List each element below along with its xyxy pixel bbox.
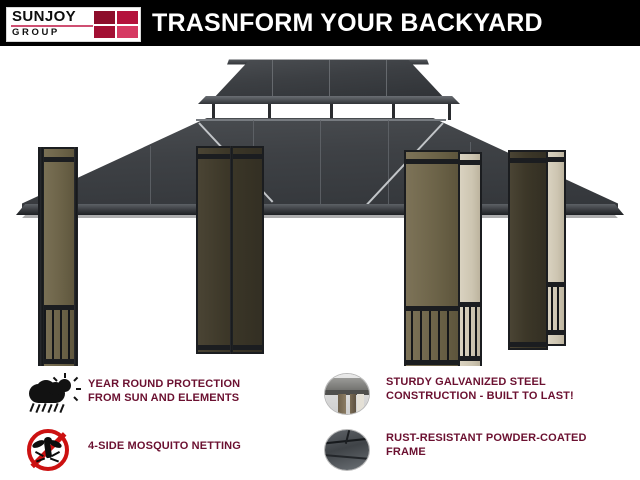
bay-rail-top [406, 159, 458, 164]
feature-label: STURDY GALVANIZED STEEL CONSTRUCTION - B… [386, 372, 574, 403]
rain-streak [47, 404, 52, 413]
scroll-bar [551, 286, 553, 332]
logo-wordmark: SUNJOY GROUP [9, 8, 93, 41]
feature-label-line: YEAR ROUND PROTECTION [88, 378, 240, 392]
scroll-bar [68, 309, 70, 363]
bay-rail-mid [548, 282, 564, 287]
bay-rail-low [548, 330, 564, 335]
bay-rail-low [510, 342, 546, 347]
cupola-seam [386, 60, 387, 100]
curtain-bay-left-corner [38, 147, 78, 366]
rain-streak [29, 403, 34, 412]
cupola-seam [329, 60, 330, 100]
no-mosquito-icon [24, 428, 80, 472]
scroll-bar [557, 286, 559, 332]
logo-square-3 [94, 26, 115, 39]
scrollwork-panel [460, 306, 480, 358]
roof-panel-seam [320, 120, 321, 208]
bay-rail-top [40, 157, 76, 162]
steel-post-photo-icon [322, 372, 378, 416]
post-edge-left [40, 147, 44, 366]
photo-curtain [357, 394, 364, 414]
cupola-eave [198, 96, 460, 104]
sun-ray [64, 373, 66, 378]
bay-rail-low [406, 360, 458, 365]
cupola-support-leg [212, 104, 215, 120]
feature-galvanized-steel: STURDY GALVANIZED STEEL CONSTRUCTION - B… [322, 372, 634, 416]
roof-ridge-line [196, 119, 446, 121]
advertisement-banner: SUNJOY GROUP TRASNFORM YOUR BACKYARD [0, 0, 640, 480]
scrollwork-panel [406, 310, 458, 362]
scroll-bar [429, 310, 431, 362]
logo-brand-line1: SUNJOY [12, 9, 76, 24]
feature-label-line: RUST-RESISTANT POWDER-COATED [386, 432, 587, 446]
scrollwork-panel [40, 309, 76, 363]
corner-post-far-right [546, 150, 566, 346]
sunjoy-group-logo: SUNJOY GROUP [6, 7, 141, 42]
feature-label-line: STURDY GALVANIZED STEEL [386, 376, 574, 390]
logo-brand-line2: GROUP [12, 27, 60, 38]
bay-rail-low [460, 356, 480, 361]
sun-ray [73, 396, 78, 401]
post-edge-left-inner [74, 147, 78, 366]
scroll-bar [438, 310, 440, 362]
scroll-bar [52, 309, 54, 363]
roof-panel-seam [150, 146, 151, 208]
sun-ray [53, 377, 58, 382]
bay-rail-top [548, 157, 564, 162]
cupola-support-leg [448, 104, 451, 120]
rain-streak [59, 404, 64, 413]
sun-ray [73, 377, 78, 382]
scroll-bar [60, 309, 62, 363]
scroll-bar [469, 306, 471, 358]
bay-rail-mid [406, 306, 458, 311]
feature-mosquito-netting: 4-SIDE MOSQUITO NETTING [24, 428, 314, 472]
bay-rail-low [40, 359, 76, 364]
curtain-bay-far-right [508, 150, 548, 350]
roof-panel-seam [388, 120, 389, 208]
scroll-bar [420, 310, 422, 362]
rain-streak [41, 403, 46, 412]
bay-rail-top [510, 158, 546, 163]
scroll-bar [475, 306, 477, 358]
scrollwork-panel [548, 286, 564, 332]
corner-post-right-curtain [458, 152, 482, 366]
sun-ray [76, 388, 81, 390]
bay-rail-mid [40, 305, 76, 310]
logo-square-4 [117, 26, 138, 39]
scroll-bar [463, 306, 465, 358]
header-bar: SUNJOY GROUP TRASNFORM YOUR BACKYARD [0, 0, 640, 46]
feature-label-line: FROM SUN AND ELEMENTS [88, 392, 240, 406]
logo-square-grid [94, 11, 138, 38]
feature-label-line: FRAME [386, 446, 587, 460]
photo-post-inner [350, 394, 356, 414]
feature-list: YEAR ROUND PROTECTION FROM SUN AND ELEME… [0, 366, 640, 480]
cupola-support-leg [268, 104, 271, 120]
cloud-puff [48, 382, 63, 395]
feature-label-line: CONSTRUCTION - BUILT TO LAST! [386, 390, 574, 404]
bay-rail-mid [460, 302, 480, 307]
curtain-bay-right-center [404, 150, 460, 366]
feature-label: YEAR ROUND PROTECTION FROM SUN AND ELEME… [88, 374, 240, 405]
logo-square-1 [94, 11, 115, 24]
steel-photo-circle [324, 373, 370, 415]
feature-label-line: 4-SIDE MOSQUITO NETTING [88, 440, 241, 454]
sun-rain-cloud-icon [24, 374, 80, 418]
cupola-seam [272, 60, 273, 100]
frame-photo-circle [324, 429, 370, 471]
scroll-bar [44, 309, 46, 363]
bay-rail-top [460, 160, 480, 165]
headline-text: TRASNFORM YOUR BACKYARD [152, 8, 632, 38]
scroll-bar [411, 310, 413, 362]
photo-post [338, 394, 346, 414]
product-photo [0, 46, 640, 366]
weather-glyph [28, 376, 80, 418]
cupola-support-leg [392, 104, 395, 120]
rain-streak [53, 403, 58, 412]
feature-label: 4-SIDE MOSQUITO NETTING [88, 428, 241, 454]
powder-coated-frame-photo-icon [322, 428, 378, 472]
feature-label: RUST-RESISTANT POWDER-COATED FRAME [386, 428, 587, 459]
curtain-fold-seam [230, 146, 233, 354]
feature-powder-coated-frame: RUST-RESISTANT POWDER-COATED FRAME [322, 428, 634, 472]
feature-year-round-protection: YEAR ROUND PROTECTION FROM SUN AND ELEME… [24, 374, 314, 418]
cupola-support-leg [330, 104, 333, 120]
logo-square-2 [117, 11, 138, 24]
mosquito-glyph [27, 429, 69, 471]
scroll-bar [447, 310, 449, 362]
rain-streak [35, 404, 40, 413]
